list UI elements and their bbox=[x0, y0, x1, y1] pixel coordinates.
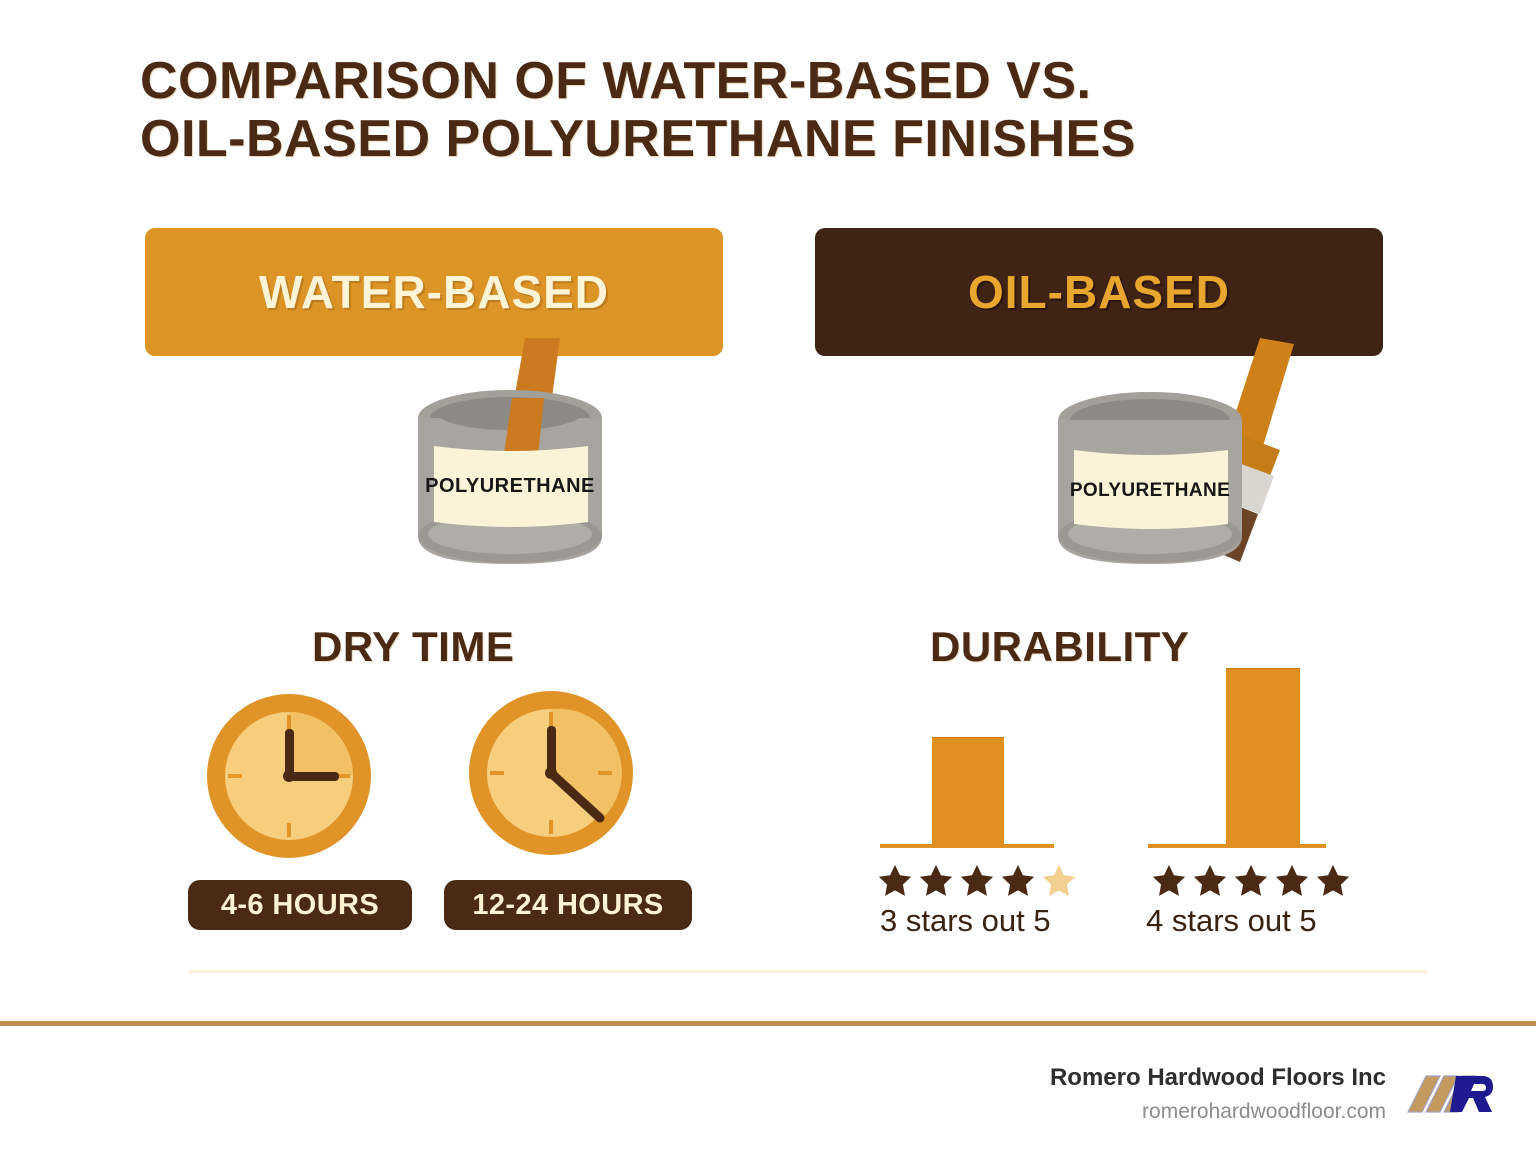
durability-bar-chart bbox=[880, 670, 1350, 850]
star-icon-filled bbox=[1314, 862, 1352, 900]
clock-icon-12-24-hours bbox=[466, 688, 636, 858]
star-icon-filled bbox=[1150, 862, 1188, 900]
star-icon-filled bbox=[876, 862, 914, 900]
star-icon-filled bbox=[1191, 862, 1229, 900]
banner-water-based-label: WATER-BASED bbox=[259, 265, 609, 319]
footer-divider bbox=[0, 1021, 1536, 1026]
banner-oil-based-label: OIL-BASED bbox=[968, 265, 1230, 319]
banner-oil-based: OIL-BASED bbox=[815, 228, 1383, 356]
clock-icon-4-6-hours bbox=[204, 691, 374, 861]
star-icon-filled bbox=[999, 862, 1037, 900]
page-title: COMPARISON OF WATER-BASED VS. OIL-BASED … bbox=[140, 52, 1440, 168]
footer: Romero Hardwood Floors Inc romerohardwoo… bbox=[1090, 1058, 1510, 1138]
section-heading-durability: DURABILITY bbox=[930, 623, 1189, 671]
dry-time-clocks bbox=[190, 688, 710, 868]
romero-hardwood-floors-logo-icon bbox=[1396, 1064, 1496, 1126]
footer-website-url: romerohardwoodfloor.com bbox=[1142, 1100, 1386, 1124]
star-icon-filled bbox=[958, 862, 996, 900]
star-caption-oil: 4 stars out 5 bbox=[1146, 903, 1317, 939]
badge-dry-time-oil: 12-24 HOURS bbox=[444, 880, 692, 930]
infographic-page: COMPARISON OF WATER-BASED VS. OIL-BASED … bbox=[0, 0, 1536, 1154]
content-divider bbox=[188, 970, 1428, 973]
durability-bar-oil bbox=[1226, 668, 1300, 845]
paint-can-oil-label: POLYURETHANE bbox=[1070, 480, 1230, 501]
star-rating-water bbox=[876, 862, 1078, 900]
paint-can-water-label: POLYURETHANE bbox=[425, 475, 595, 497]
paint-can-oil-icon: POLYURETHANE bbox=[1042, 338, 1312, 598]
star-icon-filled bbox=[917, 862, 955, 900]
paint-can-water-icon: POLYURETHANE bbox=[392, 338, 632, 598]
bar-group-water bbox=[880, 670, 1090, 850]
star-icon-filled bbox=[1232, 862, 1270, 900]
page-title-line-1: COMPARISON OF WATER-BASED VS. bbox=[140, 52, 1092, 110]
banner-water-based: WATER-BASED bbox=[145, 228, 723, 356]
star-caption-water: 3 stars out 5 bbox=[880, 903, 1051, 939]
section-heading-dry-time: DRY TIME bbox=[312, 623, 514, 671]
bar-group-oil bbox=[1138, 670, 1348, 850]
badge-dry-time-water-label: 4-6 HOURS bbox=[221, 889, 379, 922]
badge-dry-time-water: 4-6 HOURS bbox=[188, 880, 412, 930]
bar-baseline-oil bbox=[1148, 844, 1326, 848]
star-icon-empty bbox=[1040, 862, 1078, 900]
page-title-line-2: OIL-BASED POLYURETHANE FINISHES bbox=[140, 110, 1440, 168]
star-icon-filled bbox=[1273, 862, 1311, 900]
star-rating-oil bbox=[1150, 862, 1352, 900]
bar-baseline-water bbox=[880, 844, 1054, 848]
footer-company-name: Romero Hardwood Floors Inc bbox=[1050, 1064, 1386, 1092]
durability-bar-water bbox=[932, 737, 1004, 845]
badge-dry-time-oil-label: 12-24 HOURS bbox=[472, 889, 663, 922]
